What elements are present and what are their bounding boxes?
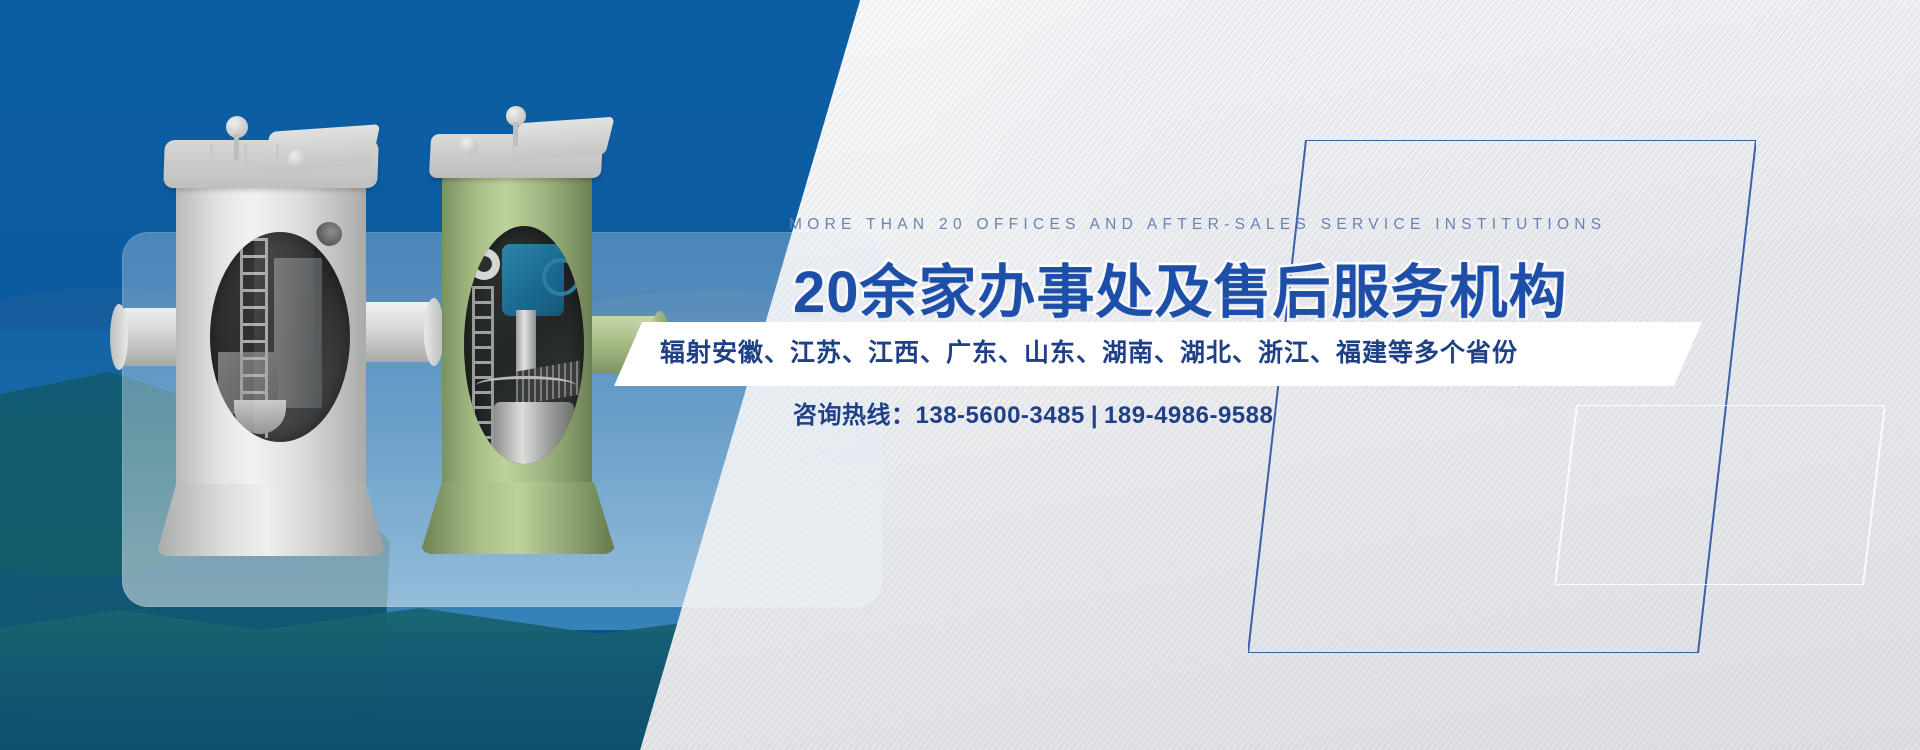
hotline-separator: | — [1085, 402, 1104, 429]
grey-base-flare — [156, 484, 386, 556]
hotline-phone-2[interactable]: 189-4986-9588 — [1104, 402, 1273, 429]
green-lid-secondary — [509, 117, 614, 162]
product-image-green-pump-station — [418, 104, 648, 534]
coverage-text: 辐射安徽、江苏、江西、广东、山东、湖南、湖北、浙江、福建等多个省份 — [660, 333, 1700, 369]
grey-vent-cap — [226, 116, 248, 138]
product-image-grey-pump-station — [148, 112, 408, 532]
hotline-label: 咨询热线： — [793, 402, 916, 429]
headline-title: 20余家办事处及售后服务机构 — [793, 245, 1568, 329]
grey-lifting-pin — [244, 144, 247, 166]
grey-side-nozzle — [316, 222, 342, 246]
grey-internal-highlight — [254, 232, 314, 442]
green-internal-railing — [476, 376, 576, 395]
green-vent-cap — [506, 106, 526, 126]
green-vent-cap-small — [460, 136, 478, 154]
promo-banner: MORE THAN 20 OFFICES AND AFTER-SALES SER… — [0, 0, 1920, 750]
grey-lifting-pin — [276, 144, 279, 166]
green-internal-flange — [468, 248, 500, 280]
grey-vent-cap-small — [288, 150, 306, 168]
english-subtitle: MORE THAN 20 OFFICES AND AFTER-SALES SER… — [789, 216, 1606, 234]
green-internal-ladder — [472, 286, 494, 456]
green-cutaway-window — [464, 226, 584, 464]
grey-lid-secondary — [262, 124, 381, 172]
hotline-row: 咨询热线：138-5600-3485|189-4986-9588 — [793, 395, 1273, 430]
hotline-phone-1[interactable]: 138-5600-3485 — [916, 402, 1085, 429]
grey-lifting-pin — [210, 144, 213, 166]
grey-cutaway-window — [210, 232, 350, 442]
green-internal-valve-teal — [502, 244, 564, 316]
green-internal-drum — [494, 402, 574, 464]
green-base-flare — [420, 482, 616, 554]
